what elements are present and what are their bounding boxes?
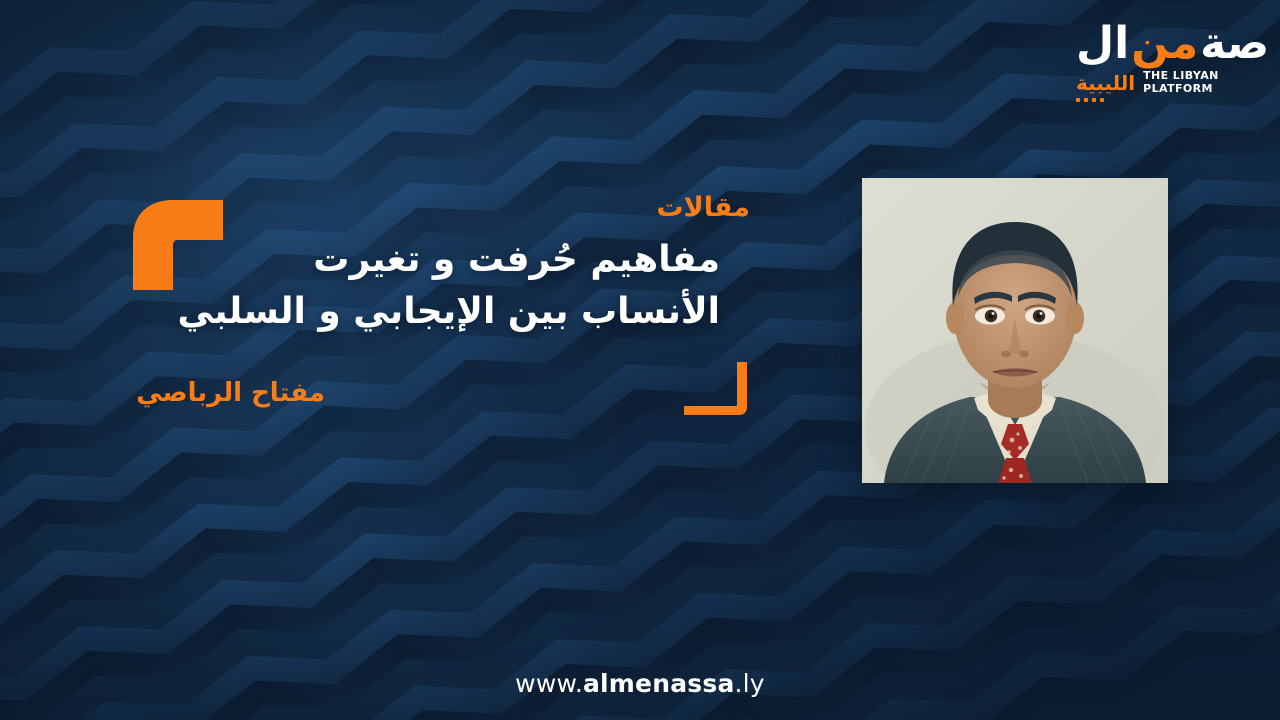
author-name: مفتاح الرباصي xyxy=(136,378,325,408)
website-url[interactable]: www.almenassa.ly xyxy=(0,669,1280,698)
url-tld: .ly xyxy=(735,669,765,698)
category-label: مقالات xyxy=(656,192,750,223)
brand-logo-english: THE LIBYAN PLATFORM xyxy=(1143,70,1219,95)
url-name: almenassa xyxy=(583,669,735,698)
brand-logo-dots-icon xyxy=(1076,98,1194,102)
article-headline-line-1: مفاهيم حُرفت و تغيرت xyxy=(80,234,720,286)
brand-logo-ar-accent: من xyxy=(1131,22,1198,66)
brand-logo-arabic: صةمنال xyxy=(1076,22,1252,66)
brand-logo-ar-lead: ال xyxy=(1076,22,1129,66)
brand-logo-subline: THE LIBYAN PLATFORM الليبية xyxy=(1076,70,1252,95)
brand-logo-ar-tail: صة xyxy=(1200,22,1269,66)
article-headline: مفاهيم حُرفت و تغيرت الأنساب بين الإيجاب… xyxy=(80,234,720,338)
brand-logo-english-line2: PLATFORM xyxy=(1143,83,1219,96)
brand-logo-english-line1: THE LIBYAN xyxy=(1143,70,1219,83)
article-headline-line-2: الأنساب بين الإيجابي و السلبي xyxy=(80,286,720,338)
url-prefix: www. xyxy=(515,669,583,698)
author-portrait-photo xyxy=(862,178,1168,483)
brand-logo[interactable]: صةمنال THE LIBYAN PLATFORM الليبية xyxy=(1076,22,1252,102)
brand-logo-arabic-sub: الليبية xyxy=(1076,73,1135,93)
article-card: صةمنال THE LIBYAN PLATFORM الليبية مقالا… xyxy=(0,0,1280,720)
quote-bracket-bottom-icon xyxy=(684,362,754,416)
